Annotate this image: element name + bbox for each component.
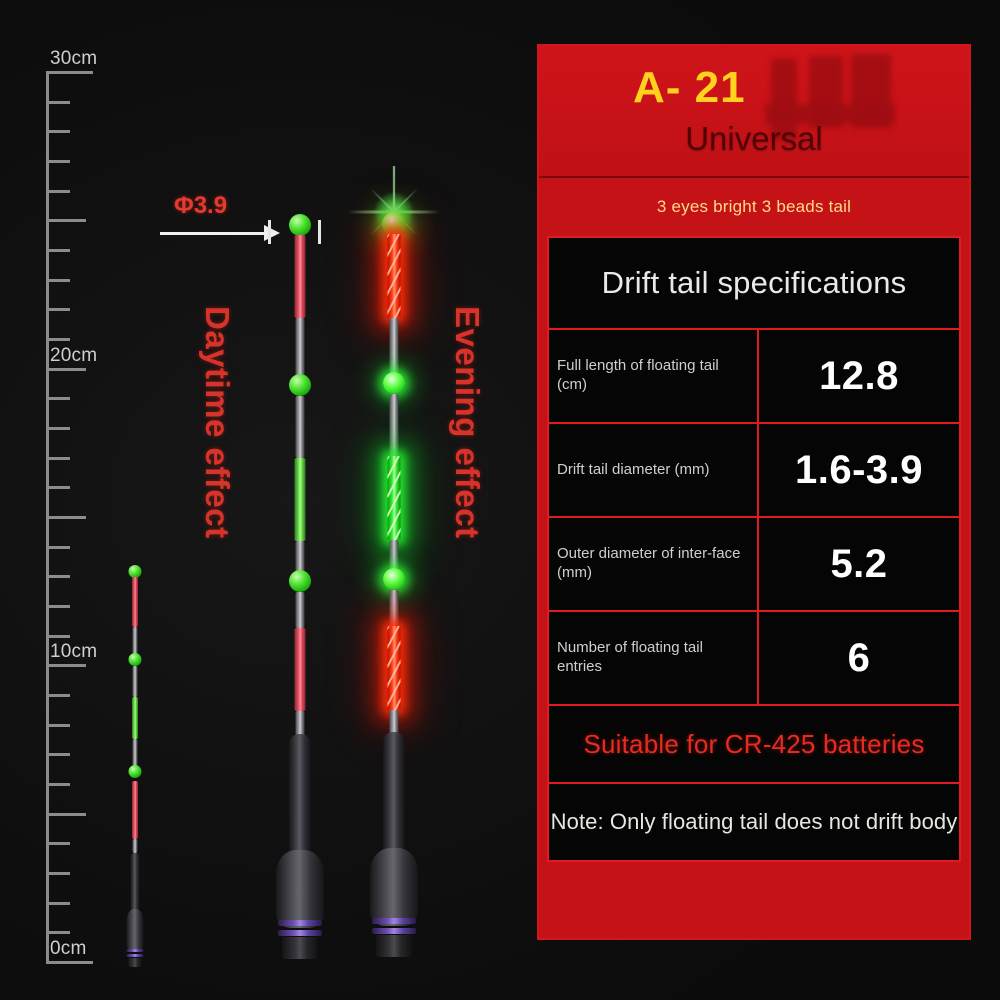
bead-middle <box>289 374 311 396</box>
bead-top <box>382 212 406 236</box>
callout-arrow-line <box>160 232 268 235</box>
bead-top <box>289 214 311 236</box>
float-body-upper <box>383 732 405 857</box>
spec-key-cell: Outer diameter of inter-face (mm) <box>549 518 759 610</box>
float-daytime <box>270 214 330 954</box>
float-small-reference <box>110 565 160 965</box>
segment-green-lit <box>388 456 401 540</box>
spec-row: Number of floating tail entries6 <box>547 612 961 706</box>
ruler-tick-20cm <box>46 368 86 371</box>
ruler-tick-11cm <box>46 635 70 638</box>
float-evening <box>362 212 426 954</box>
segment-red-lower <box>132 781 138 839</box>
ruler-tick-15cm <box>46 516 86 519</box>
ruler-tick-19cm <box>46 397 70 400</box>
label-evening-effect: Evening effect <box>448 306 486 539</box>
float-body-upper <box>289 734 311 859</box>
segment-gray-3 <box>296 541 305 573</box>
spec-key: Number of floating tail entries <box>557 639 751 677</box>
segment-gray-4 <box>390 590 399 626</box>
label-daytime-effect: Daytime effect <box>198 306 236 539</box>
spec-panel: A- 21 Universal 3 eyes bright 3 beads ta… <box>537 44 971 940</box>
float-body-tip <box>128 958 142 967</box>
float-ring-2 <box>278 930 322 936</box>
ruler-tick-13cm <box>46 575 70 578</box>
float-ring-1 <box>127 949 144 952</box>
ruler-tick-28cm <box>46 130 70 133</box>
float-body-bulb <box>127 909 144 951</box>
segment-green <box>295 458 306 541</box>
spec-value: 1.6-3.9 <box>795 448 923 493</box>
ruler-tick-29cm <box>46 101 70 104</box>
panel-subtitle: 3 eyes bright 3 beads tail <box>539 178 969 236</box>
float-body-tip <box>376 935 412 957</box>
ruler-tick-9cm <box>46 694 70 697</box>
ruler-tick-7cm <box>46 753 70 756</box>
float-ring-1 <box>278 920 322 926</box>
float-ring-2 <box>127 954 144 957</box>
ruler-tick-22cm <box>46 308 70 311</box>
universal-label: Universal <box>539 120 969 158</box>
bead-lower <box>383 568 405 590</box>
ruler-tick-12cm <box>46 605 70 608</box>
spec-value-cell: 1.6-3.9 <box>759 424 959 516</box>
float-body-upper <box>131 853 140 913</box>
spec-rows-container: Full length of floating tail (cm)12.8Dri… <box>547 330 961 706</box>
bead-lower <box>129 765 142 778</box>
diameter-callout: Φ3.9 <box>160 192 360 262</box>
spec-key-cell: Number of floating tail entries <box>549 612 759 704</box>
ruler-tick-26cm <box>46 190 70 193</box>
spec-key-cell: Full length of floating tail (cm) <box>549 330 759 422</box>
segment-gray-1 <box>390 318 399 375</box>
segment-gray-3 <box>390 540 399 571</box>
spec-value-cell: 6 <box>759 612 959 704</box>
segment-red-lower <box>295 628 306 711</box>
segment-gray-1 <box>133 627 138 656</box>
bead-lower <box>289 570 311 592</box>
ruler-tick-17cm <box>46 457 70 460</box>
ruler-label-30cm: 30cm <box>50 48 97 70</box>
spec-table-title: Drift tail specifications <box>602 265 907 301</box>
panel-subtitle-text: 3 eyes bright 3 beads tail <box>657 197 851 217</box>
segment-red-upper <box>132 577 138 627</box>
ruler-tick-18cm <box>46 427 70 430</box>
segment-gray-4 <box>133 839 138 853</box>
ruler-tick-21cm <box>46 338 70 341</box>
spec-row: Outer diameter of inter-face (mm)5.2 <box>547 518 961 612</box>
bead-middle <box>383 372 405 394</box>
segment-gray-4 <box>296 592 305 628</box>
ruler-tick-23cm <box>46 279 70 282</box>
ruler-tick-1cm <box>46 931 70 934</box>
spec-value: 5.2 <box>830 542 887 587</box>
spec-key: Drift tail diameter (mm) <box>557 461 710 480</box>
ruler-tick-4cm <box>46 842 70 845</box>
segment-gray-1 <box>296 318 305 377</box>
spec-table: Drift tail specifications Full length of… <box>539 236 969 870</box>
battery-row: Suitable for CR-425 batteries <box>547 706 961 784</box>
spec-key-cell: Drift tail diameter (mm) <box>549 424 759 516</box>
ruler-tick-2cm <box>46 902 70 905</box>
segment-gray-2 <box>296 396 305 458</box>
product-infographic: 30cm20cm10cm0cm Φ3.9 <box>0 0 1000 1000</box>
segment-red-upper <box>295 235 306 318</box>
model-code: A- 21 <box>633 63 746 113</box>
segment-gray-2 <box>133 666 138 697</box>
footer-note: Note: Only floating tail does not drift … <box>551 809 958 835</box>
ruler-label-0cm: 0cm <box>50 938 87 960</box>
ruler-label-10cm: 10cm <box>50 641 97 663</box>
ruler-tick-3cm <box>46 872 70 875</box>
ruler-tick-24cm <box>46 249 70 252</box>
ruler-tick-14cm <box>46 546 70 549</box>
float-body-bulb <box>370 848 418 926</box>
segment-green <box>132 697 138 739</box>
battery-note: Suitable for CR-425 batteries <box>583 729 924 760</box>
spec-value-cell: 5.2 <box>759 518 959 610</box>
ruler-tick-10cm <box>46 664 86 667</box>
spec-row: Full length of floating tail (cm)12.8 <box>547 330 961 424</box>
ruler-tick-6cm <box>46 783 70 786</box>
ruler-tick-16cm <box>46 486 70 489</box>
footer-note-row: Note: Only floating tail does not drift … <box>547 784 961 862</box>
spec-key: Full length of floating tail (cm) <box>557 357 751 395</box>
ruler-tick-0cm <box>46 961 93 964</box>
panel-header: A- 21 Universal <box>539 46 969 178</box>
float-body-bulb <box>276 850 324 928</box>
spec-value: 6 <box>848 636 871 681</box>
spec-table-title-cell: Drift tail specifications <box>549 238 959 328</box>
ruler-tick-30cm <box>46 71 93 74</box>
ruler-tick-25cm <box>46 219 86 222</box>
bead-middle <box>129 653 142 666</box>
spec-value: 12.8 <box>819 354 899 399</box>
ruler-tick-27cm <box>46 160 70 163</box>
segment-gray-2 <box>390 394 399 456</box>
spec-table-title-row: Drift tail specifications <box>547 236 961 330</box>
segment-red-lower-lit <box>388 626 401 710</box>
spec-row: Drift tail diameter (mm)1.6-3.9 <box>547 424 961 518</box>
segment-red-upper-lit <box>388 234 401 318</box>
float-body-tip <box>282 937 318 959</box>
float-ring-1 <box>372 918 416 924</box>
spec-key: Outer diameter of inter-face (mm) <box>557 545 751 583</box>
ruler-label-20cm: 20cm <box>50 345 97 367</box>
ruler-tick-5cm <box>46 813 86 816</box>
spec-value-cell: 12.8 <box>759 330 959 422</box>
ruler-tick-8cm <box>46 724 70 727</box>
diameter-label: Φ3.9 <box>174 192 227 220</box>
float-ring-2 <box>372 928 416 934</box>
